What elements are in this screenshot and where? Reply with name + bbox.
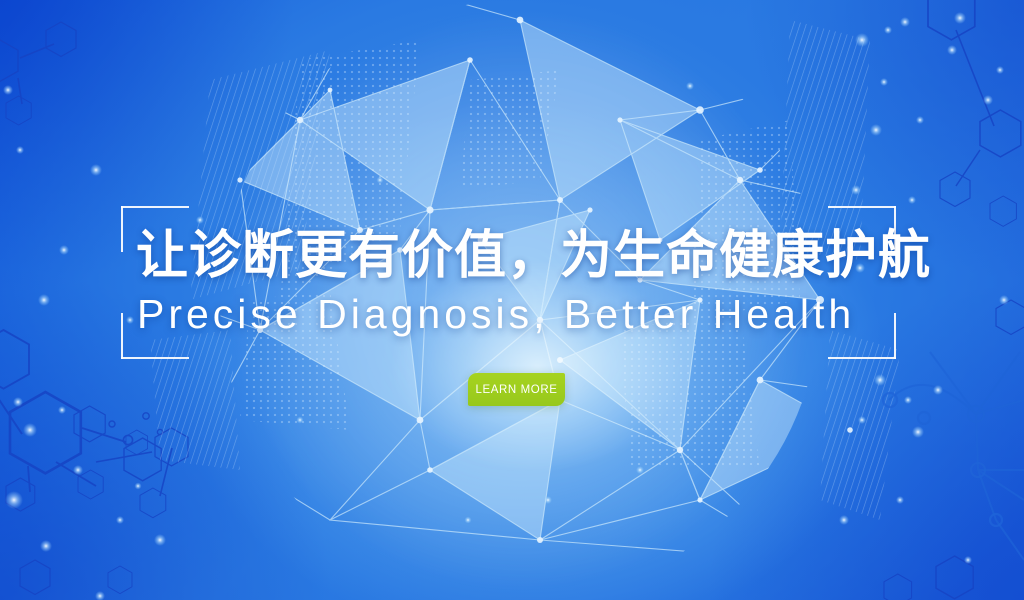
headline-chinese: 让诊断更有价值，为生命健康护航 bbox=[136, 228, 896, 284]
headline-english: Precise Diagnosis, Better Health bbox=[137, 292, 917, 337]
learn-more-button[interactable]: LEARN MORE bbox=[468, 373, 565, 406]
banner-content: 让诊断更有价值，为生命健康护航 Precise Diagnosis, Bette… bbox=[0, 0, 1024, 600]
hero-banner: 让诊断更有价值，为生命健康护航 Precise Diagnosis, Bette… bbox=[0, 0, 1024, 600]
